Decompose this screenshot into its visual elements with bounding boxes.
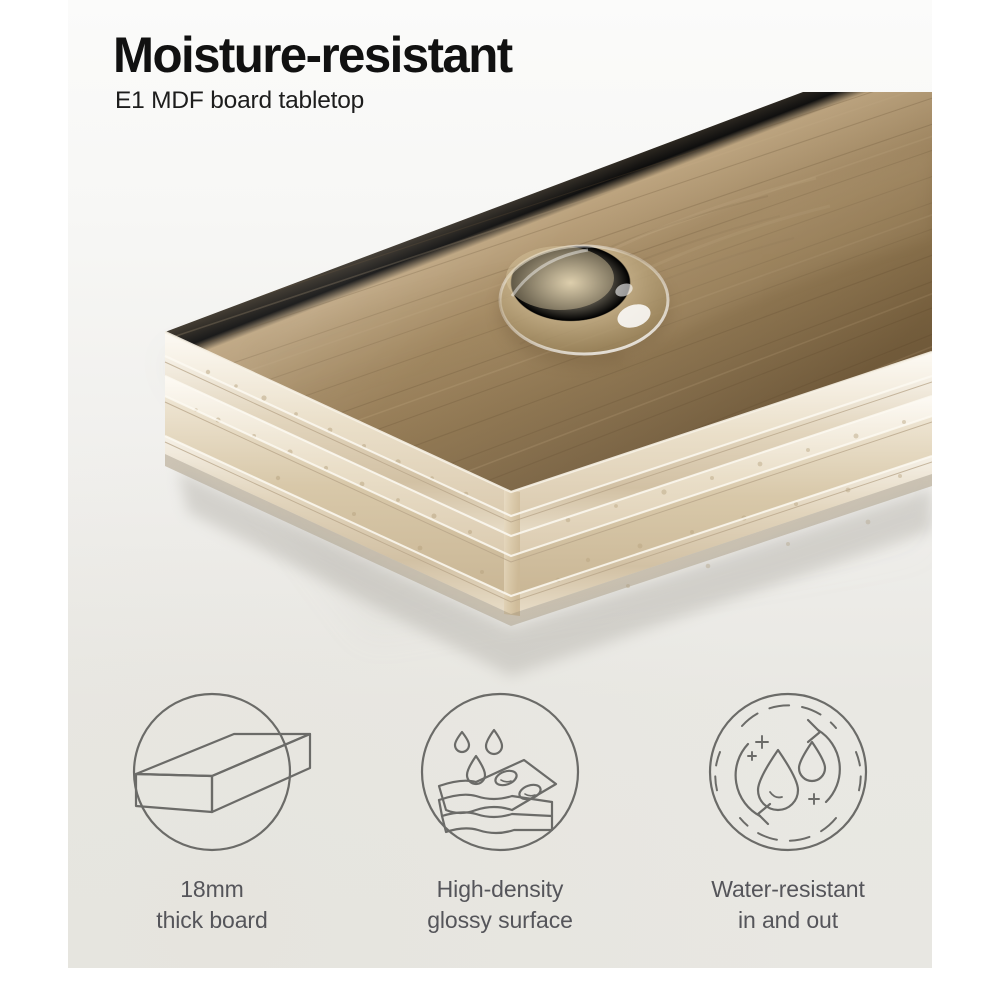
feature-caption: High-density glossy surface [427,874,573,936]
water-resistant-cycle-icon [690,690,886,860]
content-panel: Moisture-resistant E1 MDF board tabletop [68,0,932,968]
header-block: Moisture-resistant E1 MDF board tabletop [113,30,518,114]
feature-item-water: Water-resistant in and out [644,690,932,960]
board-thickness-icon [114,690,310,860]
infographic-canvas: Moisture-resistant E1 MDF board tabletop [0,0,1000,1000]
icon-circle [710,694,866,850]
feature-caption: Water-resistant in and out [711,874,865,936]
page-title: Moisture-resistant [113,30,512,80]
water-droplet [498,246,670,366]
feature-caption: 18mm thick board [156,874,267,936]
feature-item-density: High-density glossy surface [356,690,644,960]
page-subtitle: E1 MDF board tabletop [115,89,518,114]
icon-circle [134,694,290,850]
feature-item-thickness: 18mm thick board [68,690,356,960]
layered-sheets-droplets-icon [402,690,598,860]
feature-list: 18mm thick board [68,690,932,960]
